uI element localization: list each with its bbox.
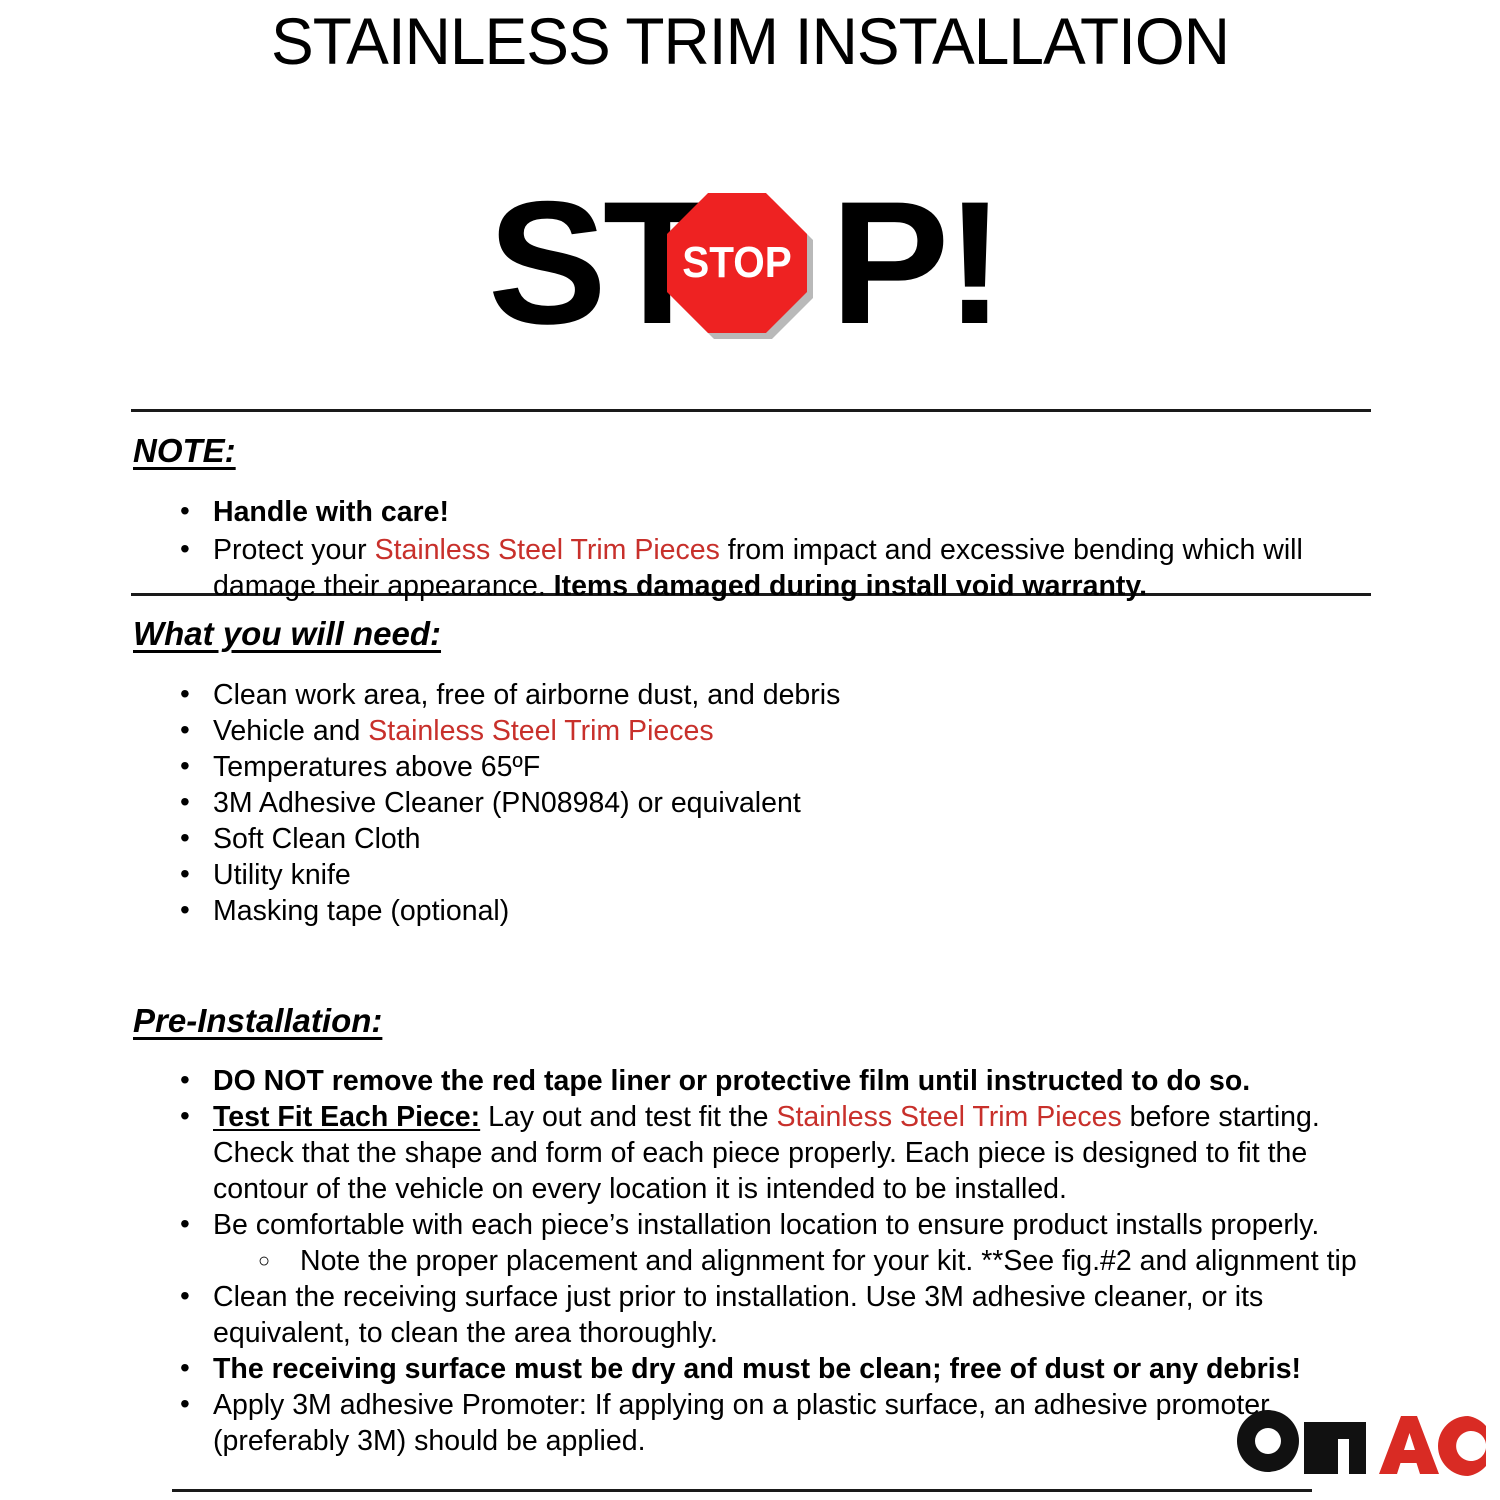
sub-list: Note the proper placement and alignment …	[180, 1243, 1370, 1279]
note-list: Handle with care!Protect your Stainless …	[180, 494, 1370, 606]
list-item: Handle with care!	[180, 494, 1370, 530]
divider-top	[131, 409, 1371, 412]
text-run: Be comfortable with each piece’s install…	[213, 1209, 1319, 1241]
text-run: Clean the receiving surface just prior t…	[213, 1281, 1263, 1349]
sub-list-item: Note the proper placement and alignment …	[258, 1243, 1370, 1279]
text-run: Handle with care!	[213, 496, 449, 528]
section-heading-note: NOTE:	[133, 432, 236, 470]
text-run: Temperatures above 65ºF	[213, 751, 540, 783]
text-run: 3M Adhesive Cleaner (PN08984) or equival…	[213, 787, 801, 819]
text-run: Protect your	[213, 534, 375, 566]
text-run: Stainless Steel Trim Pieces	[375, 534, 720, 566]
list-item: Vehicle and Stainless Steel Trim Pieces	[180, 713, 1370, 749]
list-item: Soft Clean Cloth	[180, 821, 1370, 857]
list-item: Protect your Stainless Steel Trim Pieces…	[180, 532, 1370, 604]
pre-installation-list: DO NOT remove the red tape liner or prot…	[180, 1063, 1370, 1459]
text-run: Masking tape (optional)	[213, 895, 509, 927]
stop-sign-octagon-icon: STOP	[667, 193, 815, 341]
stop-logo-right-letters: P!	[830, 170, 1000, 358]
text-run: Vehicle and	[213, 715, 368, 747]
list-item: Clean the receiving surface just prior t…	[180, 1279, 1370, 1351]
text-run: The receiving surface must be dry and mu…	[213, 1353, 1301, 1385]
omac-logo-icon	[1234, 1404, 1486, 1478]
text-run: Stainless Steel Trim Pieces	[368, 715, 713, 747]
section-heading-what-you-need: What you will need:	[133, 615, 441, 653]
list-item: Be comfortable with each piece’s install…	[180, 1207, 1370, 1243]
text-run: Soft Clean Cloth	[213, 823, 421, 855]
page-title: STAINLESS TRIM INSTALLATION	[23, 8, 1478, 74]
text-run: Clean work area, free of airborne dust, …	[213, 679, 840, 711]
text-run: Items damaged during install void warran…	[554, 570, 1147, 602]
list-item: Temperatures above 65ºF	[180, 749, 1370, 785]
divider-bottom	[172, 1489, 1312, 1492]
omac-brand-logo	[1234, 1404, 1486, 1478]
sub-list-wrapper: Note the proper placement and alignment …	[180, 1243, 1370, 1279]
text-run: Apply 3M adhesive Promoter: If applying …	[213, 1389, 1270, 1457]
text-run: Lay out and test fit the	[480, 1101, 776, 1133]
list-item: Masking tape (optional)	[180, 893, 1370, 929]
stop-warning-logo: ST STOP P!	[0, 170, 1500, 365]
text-run: Utility knife	[213, 859, 351, 891]
text-run: DO NOT remove the red tape liner or prot…	[213, 1065, 1250, 1097]
text-run: Stainless Steel Trim Pieces	[776, 1101, 1121, 1133]
list-item: 3M Adhesive Cleaner (PN08984) or equival…	[180, 785, 1370, 821]
list-item: Apply 3M adhesive Promoter: If applying …	[180, 1387, 1370, 1459]
list-item: Utility knife	[180, 857, 1370, 893]
list-item: DO NOT remove the red tape liner or prot…	[180, 1063, 1370, 1099]
what-you-need-list: Clean work area, free of airborne dust, …	[180, 677, 1370, 929]
text-run: Test Fit Each Piece:	[213, 1101, 480, 1133]
section-heading-pre-installation: Pre-Installation:	[133, 1002, 382, 1040]
stop-sign-label: STOP	[673, 193, 802, 333]
list-item: Clean work area, free of airborne dust, …	[180, 677, 1370, 713]
list-item: Test Fit Each Piece: Lay out and test fi…	[180, 1099, 1370, 1207]
list-item: The receiving surface must be dry and mu…	[180, 1351, 1370, 1387]
stop-logo-inner: ST STOP P!	[490, 170, 990, 365]
